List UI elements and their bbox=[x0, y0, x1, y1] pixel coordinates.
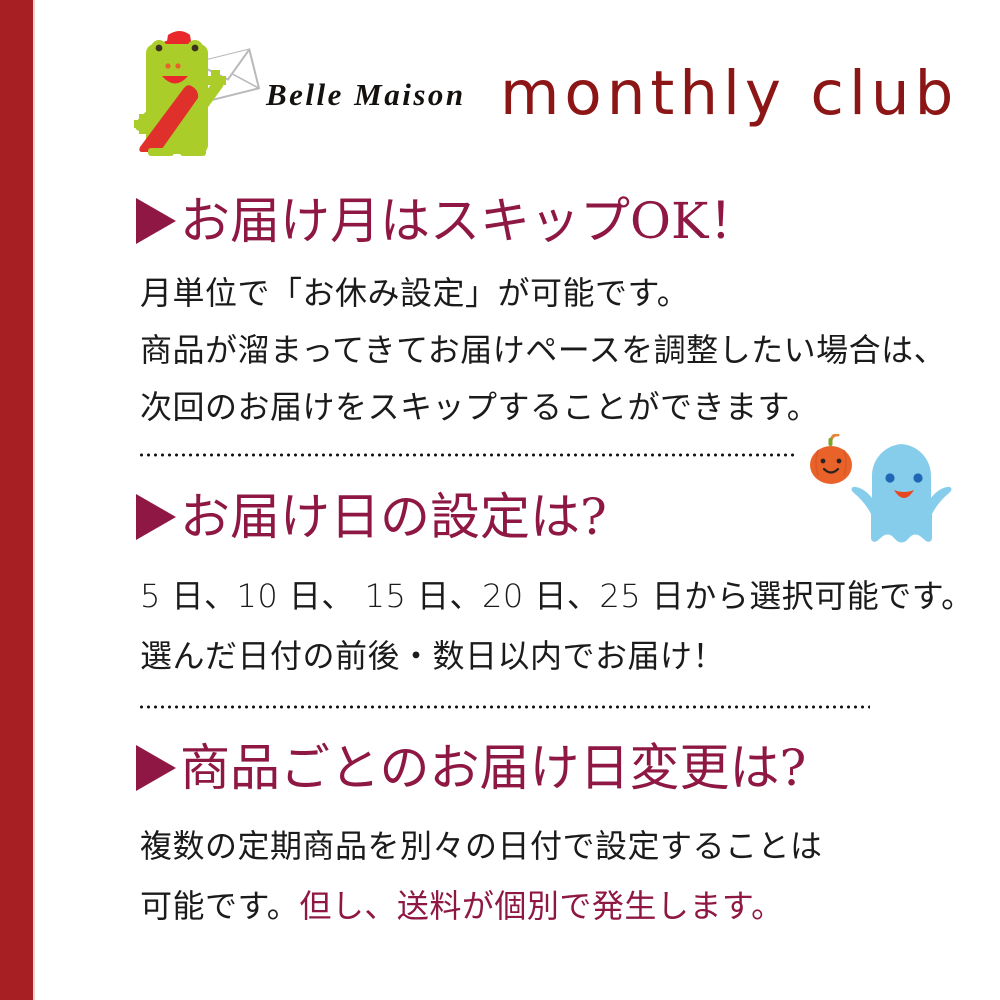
section-1-heading: お届け月はスキップOK！ bbox=[136, 196, 758, 246]
section-3-heading: 商品ごとのお届け日変更は? bbox=[136, 743, 806, 793]
page-root: Belle Maison monthly club お届け月はスキップOK！ 月… bbox=[0, 0, 1000, 1000]
triangle-bullet-icon bbox=[136, 745, 176, 791]
section-2-line-1: 5 日、10 日、 15 日、20 日、25 日から選択可能です。 bbox=[140, 580, 974, 612]
section-1-line-3: 次回のお届けをスキップすることができます。 bbox=[140, 391, 819, 423]
section-3-line-2: 可能です。但し、送料が個別で発生します。 bbox=[140, 890, 784, 922]
brand-script-text: Belle Maison bbox=[266, 77, 466, 113]
ghost-icon bbox=[848, 440, 960, 548]
section-3-line-2-plain: 可能です。 bbox=[140, 887, 299, 925]
brand-title: monthly club bbox=[500, 58, 958, 129]
divider-1 bbox=[138, 453, 798, 457]
triangle-bullet-icon bbox=[136, 198, 176, 244]
frog-mascot-icon bbox=[118, 28, 268, 168]
section-3-line-1: 複数の定期商品を別々の日付で設定することは bbox=[140, 830, 823, 862]
section-1-line-2: 商品が溜まってきてお届けペースを調整したい場合は、 bbox=[140, 334, 946, 366]
triangle-bullet-icon bbox=[136, 494, 176, 540]
section-2-line-2: 選んだ日付の前後・数日以内でお届け！ bbox=[140, 640, 725, 672]
divider-2 bbox=[138, 705, 870, 709]
section-2-heading: お届け日の設定は? bbox=[136, 492, 607, 542]
header: Belle Maison monthly club bbox=[0, 0, 1000, 175]
section-3-line-2-accent: 但し、送料が個別で発生します。 bbox=[299, 887, 783, 925]
section-1-line-1: 月単位で「お休み設定」が可能です。 bbox=[140, 277, 689, 309]
